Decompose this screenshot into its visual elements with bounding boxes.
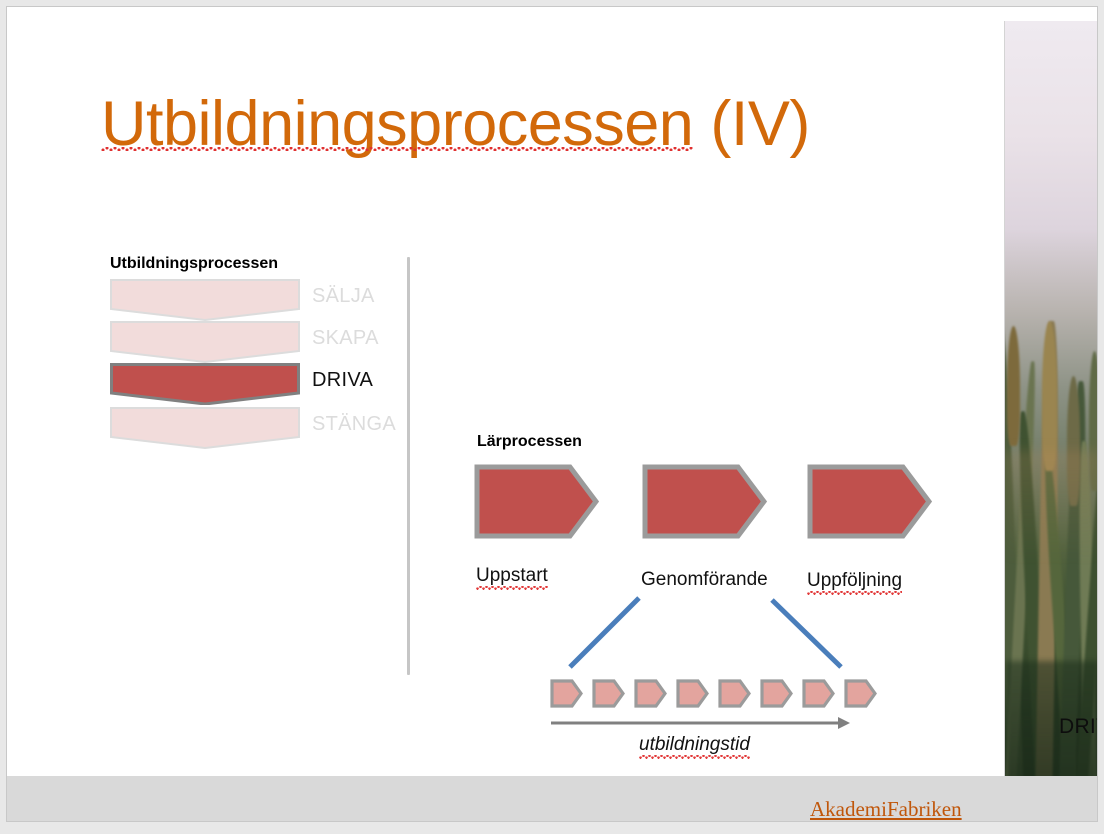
chevron-label-salja: SÄLJA — [312, 285, 375, 308]
chevron-label-driva: DRIVA — [312, 369, 373, 392]
connector-lines — [547, 587, 857, 677]
mini-arrow-5 — [718, 679, 752, 708]
process-arrow-label-genomforande: Genomförande — [641, 569, 768, 591]
chevron-shape-icon — [110, 321, 300, 363]
process-arrow-genomforande[interactable] — [642, 464, 767, 539]
screenshot-root: Utbildningsprocessen (IV) Utbildningspro… — [0, 0, 1104, 834]
chevron-row-skapa[interactable]: SKAPA — [110, 321, 400, 363]
mini-arrow-7 — [802, 679, 836, 708]
timeline-axis-arrow — [550, 715, 850, 731]
chevron-shape-icon — [110, 407, 300, 449]
process-arrow-uppstart[interactable] — [474, 464, 599, 539]
left-diagram-heading: Utbildningsprocessen — [110, 255, 278, 273]
wheat-field-photo — [1004, 21, 1098, 822]
chevron-row-stanga[interactable]: STÄNGA — [110, 407, 400, 449]
footer-brand: AkademiFabriken — [810, 797, 962, 822]
mini-arrow-1 — [550, 679, 584, 708]
connector-line-right — [772, 600, 841, 667]
slide-title-main: Utbildningsprocessen — [101, 91, 693, 157]
chevron-label-stanga: STÄNGA — [312, 413, 396, 436]
mini-arrow-2 — [592, 679, 626, 708]
chevron-shape-icon — [110, 363, 300, 405]
process-arrow-uppfoljning[interactable] — [807, 464, 932, 539]
connector-line-left — [570, 598, 639, 667]
mini-arrow-4 — [676, 679, 710, 708]
chevron-row-driva[interactable]: DRIVA — [110, 363, 400, 405]
presentation-slide: Utbildningsprocessen (IV) Utbildningspro… — [6, 6, 1098, 822]
slide-title: Utbildningsprocessen (IV) — [101, 91, 810, 157]
chevron-row-salja[interactable]: SÄLJA — [110, 279, 400, 321]
process-arrow-label-uppfoljning: Uppföljning — [807, 570, 902, 592]
chevron-shape-icon — [110, 279, 300, 321]
timeline-label: utbildningstid — [639, 734, 750, 756]
right-diagram-heading: Lärprocessen — [477, 433, 582, 451]
mini-arrow-3 — [634, 679, 668, 708]
photo-overlay-label: DRIVA — [1059, 715, 1098, 739]
mini-arrow-8 — [844, 679, 878, 708]
process-arrow-label-uppstart: Uppstart — [476, 565, 548, 587]
chevron-label-skapa: SKAPA — [312, 327, 379, 350]
slide-title-suffix: (IV) — [693, 89, 810, 159]
utbildningsprocessen-diagram: Utbildningsprocessen SÄLJA SKAPA — [110, 255, 400, 455]
section-divider — [407, 257, 410, 675]
mini-arrow-6 — [760, 679, 794, 708]
